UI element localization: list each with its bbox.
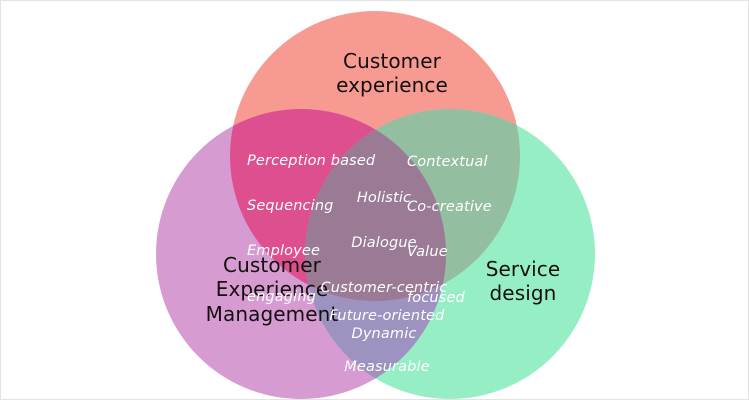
venn-diagram-canvas: Customer experience Customer Experience … bbox=[0, 0, 749, 400]
venn-circles-graphic bbox=[1, 1, 749, 400]
